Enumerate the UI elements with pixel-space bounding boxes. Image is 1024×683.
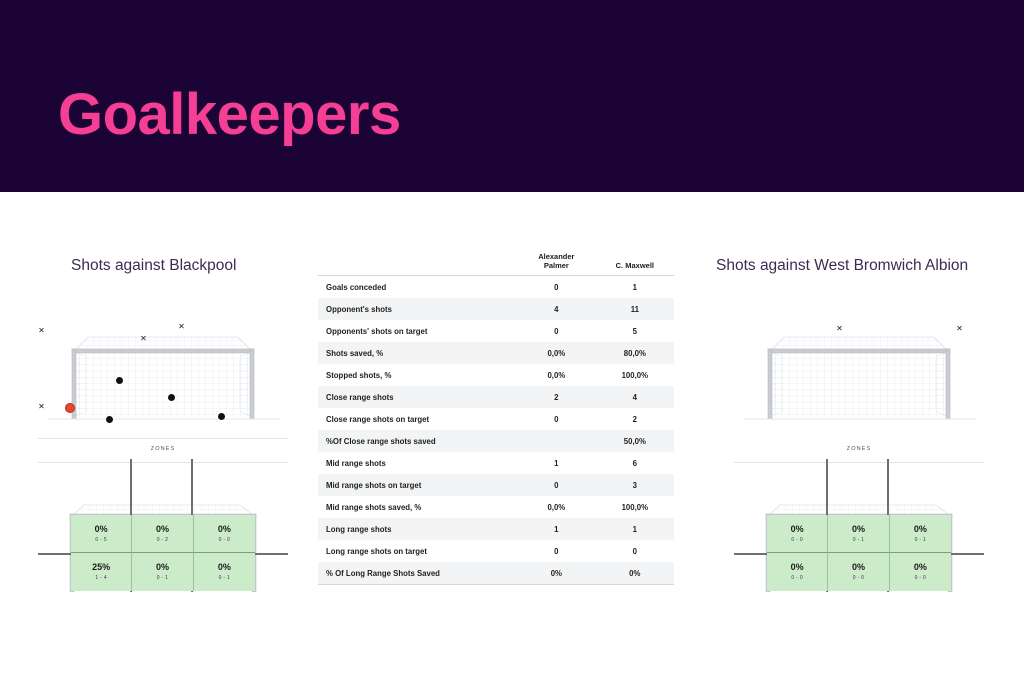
stat-metric-label: Close range shots on target [318, 408, 517, 430]
zone-fraction: 0 - 1 [219, 575, 231, 581]
stat-value-player-b: 11 [596, 298, 674, 320]
zone-percent: 0% [852, 525, 865, 534]
player-a-name-line1: Alexander [517, 252, 596, 261]
stat-metric-label: Opponents' shots on target [318, 320, 517, 342]
table-row: Close range shots24 [318, 386, 674, 408]
table-row: Shots saved, %0,0%80,0% [318, 342, 674, 364]
zones-label: ZONES [726, 446, 992, 452]
shot-marker-x: ✕ [178, 323, 185, 330]
zone-fraction: 0 - 1 [853, 537, 865, 543]
zones-label: ZONES [30, 446, 296, 452]
goalkeeper-stats-table: Alexander Palmer C. Maxwell Goals conced… [318, 252, 674, 585]
table-row: Mid range shots on target03 [318, 474, 674, 496]
table-row: Mid range shots saved, %0,0%100,0% [318, 496, 674, 518]
stat-value-player-a: 1 [517, 518, 596, 540]
table-row: Opponents' shots on target05 [318, 320, 674, 342]
table-row: Long range shots11 [318, 518, 674, 540]
stat-metric-label: % Of Long Range Shots Saved [318, 562, 517, 585]
stat-metric-label: Goals conceded [318, 276, 517, 299]
stat-value-player-b: 5 [596, 320, 674, 342]
right-zone-grid: 0% 0 - 0 0% 0 - 1 0% 0 - 1 0% 0 - 0 0% 0… [767, 515, 951, 591]
stats-table-body: Goals conceded01Opponent's shots411Oppon… [318, 276, 674, 585]
left-panel-title: Shots against Blackpool [71, 257, 236, 275]
zone-cell[interactable]: 0% 0 - 5 [71, 515, 132, 553]
stat-value-player-a: 1 [517, 452, 596, 474]
left-shot-map: ✕ ✕ ✕ ✕ [30, 315, 296, 427]
stat-metric-label: Shots saved, % [318, 342, 517, 364]
stat-metric-label: %Of Close range shots saved [318, 430, 517, 452]
right-shot-map: ✕ ✕ [726, 315, 992, 427]
zone-percent: 0% [852, 563, 865, 572]
stat-metric-label: Mid range shots on target [318, 474, 517, 496]
stat-value-player-a: 0% [517, 562, 596, 585]
right-shot-markers-layer: ✕ ✕ [764, 347, 954, 417]
shot-marker-x: ✕ [956, 325, 963, 332]
stat-metric-label: Long range shots [318, 518, 517, 540]
stat-value-player-b: 80,0% [596, 342, 674, 364]
zone-cell[interactable]: 0% 0 - 0 [767, 515, 828, 553]
stat-value-player-a: 0 [517, 408, 596, 430]
zone-percent: 0% [791, 563, 804, 572]
stat-value-player-a: 4 [517, 298, 596, 320]
table-header-row: Alexander Palmer C. Maxwell [318, 252, 674, 276]
left-zones-map: ZONES 0% 0 - 5 0% 0 - 2 [30, 436, 296, 596]
table-row: %Of Close range shots saved50,0% [318, 430, 674, 452]
shot-marker-goal [65, 403, 75, 413]
zone-fraction: 0 - 1 [915, 537, 927, 543]
stat-value-player-b: 3 [596, 474, 674, 496]
shot-marker-saved [218, 413, 225, 420]
stat-value-player-a: 0,0% [517, 342, 596, 364]
left-zone-grid: 0% 0 - 5 0% 0 - 2 0% 0 - 0 25% 1 - 4 0% … [71, 515, 255, 591]
right-zones-map: ZONES 0% 0 - 0 0% 0 - 1 [726, 436, 992, 596]
table-row: Stopped shots, %0,0%100,0% [318, 364, 674, 386]
player-a-name-line2: Palmer [517, 261, 596, 270]
table-row: Close range shots on target02 [318, 408, 674, 430]
stat-value-player-a: 0 [517, 320, 596, 342]
stat-value-player-b: 6 [596, 452, 674, 474]
zone-fraction: 0 - 0 [853, 575, 865, 581]
right-panel-title: Shots against West Bromwich Albion [716, 257, 968, 275]
stat-value-player-a: 0 [517, 474, 596, 496]
zone-percent: 0% [218, 525, 231, 534]
zone-cell[interactable]: 0% 0 - 1 [132, 553, 193, 591]
zones-divider-bottom [734, 462, 984, 463]
header-banner: Goalkeepers [0, 0, 1024, 192]
zone-percent: 0% [156, 525, 169, 534]
stat-value-player-a: 0,0% [517, 496, 596, 518]
zone-percent: 0% [914, 563, 927, 572]
zone-fraction: 0 - 5 [95, 537, 107, 543]
zone-cell[interactable]: 0% 0 - 2 [132, 515, 193, 553]
zone-fraction: 0 - 0 [219, 537, 231, 543]
stat-metric-label: Opponent's shots [318, 298, 517, 320]
table-row: Opponent's shots411 [318, 298, 674, 320]
table-row: Long range shots on target00 [318, 540, 674, 562]
stat-metric-label: Mid range shots saved, % [318, 496, 517, 518]
zone-percent: 25% [92, 563, 110, 572]
table-row: Mid range shots16 [318, 452, 674, 474]
zone-percent: 0% [791, 525, 804, 534]
zone-cell[interactable]: 0% 0 - 0 [194, 515, 255, 553]
shot-marker-x: ✕ [38, 403, 45, 410]
left-shot-markers-layer: ✕ ✕ ✕ ✕ [68, 347, 258, 417]
stat-value-player-b: 100,0% [596, 364, 674, 386]
stat-metric-label: Close range shots [318, 386, 517, 408]
zone-cell[interactable]: 0% 0 - 0 [828, 553, 889, 591]
zone-cell[interactable]: 0% 0 - 1 [194, 553, 255, 591]
stat-value-player-b: 2 [596, 408, 674, 430]
stat-value-player-a: 2 [517, 386, 596, 408]
stat-value-player-a: 0 [517, 276, 596, 299]
stat-metric-label: Stopped shots, % [318, 364, 517, 386]
stat-value-player-b: 1 [596, 276, 674, 299]
zones-divider-bottom [38, 462, 288, 463]
shot-marker-saved [168, 394, 175, 401]
shot-marker-x: ✕ [836, 325, 843, 332]
stat-value-player-a [517, 430, 596, 452]
shot-marker-x: ✕ [38, 327, 45, 334]
stat-value-player-b: 0 [596, 540, 674, 562]
zone-fraction: 0 - 0 [915, 575, 927, 581]
zones-goal-graphic: 0% 0 - 5 0% 0 - 2 0% 0 - 0 25% 1 - 4 0% … [68, 504, 258, 592]
table-row: % Of Long Range Shots Saved0%0% [318, 562, 674, 585]
zone-fraction: 0 - 0 [791, 575, 803, 581]
zone-percent: 0% [914, 525, 927, 534]
shot-marker-saved [116, 377, 123, 384]
zones-divider-top [38, 438, 288, 439]
stats-table-head: Alexander Palmer C. Maxwell [318, 252, 674, 276]
zone-percent: 0% [218, 563, 231, 572]
zone-fraction: 0 - 2 [157, 537, 169, 543]
zone-cell[interactable]: 0% 0 - 1 [828, 515, 889, 553]
stat-value-player-b: 50,0% [596, 430, 674, 452]
zone-cell[interactable]: 0% 0 - 0 [767, 553, 828, 591]
zone-cell[interactable]: 25% 1 - 4 [71, 553, 132, 591]
zones-goal-graphic: 0% 0 - 0 0% 0 - 1 0% 0 - 1 0% 0 - 0 0% 0… [764, 504, 954, 592]
zone-cell[interactable]: 0% 0 - 0 [890, 553, 951, 591]
stat-value-player-b: 4 [596, 386, 674, 408]
stat-value-player-b: 1 [596, 518, 674, 540]
stat-value-player-b: 0% [596, 562, 674, 585]
column-header-metric [318, 252, 517, 276]
zone-cell[interactable]: 0% 0 - 1 [890, 515, 951, 553]
stat-value-player-b: 100,0% [596, 496, 674, 518]
page-title: Goalkeepers [58, 86, 401, 144]
zone-fraction: 1 - 4 [95, 575, 107, 581]
stat-value-player-a: 0 [517, 540, 596, 562]
stat-metric-label: Mid range shots [318, 452, 517, 474]
column-header-player-b: C. Maxwell [596, 252, 674, 276]
zone-percent: 0% [95, 525, 108, 534]
table-row: Goals conceded01 [318, 276, 674, 299]
zone-fraction: 0 - 0 [791, 537, 803, 543]
stat-metric-label: Long range shots on target [318, 540, 517, 562]
stat-value-player-a: 0,0% [517, 364, 596, 386]
zone-percent: 0% [156, 563, 169, 572]
shot-marker-x: ✕ [140, 335, 147, 342]
shot-marker-saved [106, 416, 113, 423]
zone-fraction: 0 - 1 [157, 575, 169, 581]
column-header-player-a: Alexander Palmer [517, 252, 596, 276]
